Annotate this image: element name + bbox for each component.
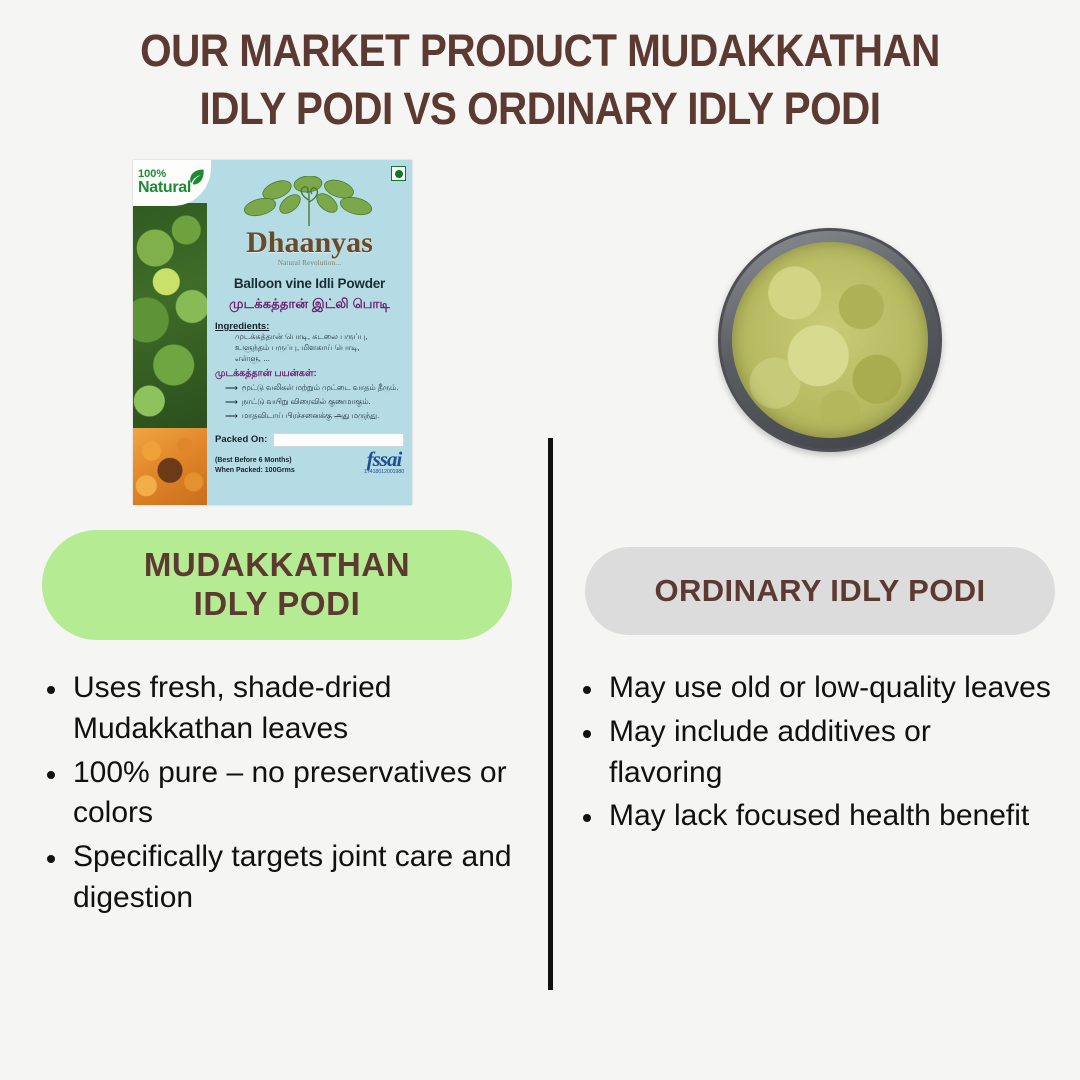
use-list-item-text: மூட்டு வலிகள் மற்றும் முட்டை வாதம் தீரும… bbox=[242, 383, 399, 392]
list-item: May lack focused health benefit bbox=[572, 796, 1052, 837]
balloon-vine-plant-photo bbox=[133, 203, 207, 428]
natural-badge-bottom-text: Natural bbox=[138, 180, 191, 197]
use-list-item-text: நாட்டு வயிறு விரைவில் குணமாகும். bbox=[242, 397, 371, 406]
product-package-image: 100% Natural bbox=[133, 160, 412, 505]
dhaanyas-plant-artwork bbox=[215, 176, 404, 234]
package-footer: (Best Before 6 Months) When Packed: 100G… bbox=[215, 449, 404, 476]
list-item: May include additives or flavoring bbox=[572, 712, 1052, 794]
page-title: OUR MARKET PRODUCT MUDAKKATHAN IDLY PODI… bbox=[54, 22, 1026, 137]
use-list-item: ⟶ மாதவிடாய் பிரச்சனைக்கு அது மருந்து. bbox=[225, 411, 404, 422]
packed-on-row: Packed On: bbox=[215, 433, 404, 447]
label-pill-mudakkathan: MUDAKKATHAN IDLY PODI bbox=[42, 530, 512, 640]
idly-podi-powder-photo bbox=[133, 428, 207, 505]
ingredients-line: முடக்கத்தான் பொடி, கடலை பருப்பு, bbox=[235, 332, 404, 343]
brand-tagline: Natural Revolution... bbox=[215, 259, 404, 267]
plant-leaves-graphic bbox=[215, 176, 405, 234]
uses-heading: முடக்கத்தான் பயன்கள்: bbox=[215, 368, 404, 380]
use-list-item: ⟶ நாட்டு வயிறு விரைவில் குணமாகும். bbox=[225, 397, 404, 408]
ordinary-drawbacks-list: May use old or low-quality leaves May in… bbox=[572, 668, 1052, 840]
list-item: Specifically targets joint care and dige… bbox=[36, 837, 556, 919]
arrow-right-icon: ⟶ bbox=[225, 397, 238, 408]
label-pill-mudakkathan-line-2: IDLY PODI bbox=[194, 585, 361, 622]
page-title-line-1: OUR MARKET PRODUCT MUDAKKATHAN bbox=[54, 22, 1026, 80]
use-list-item-text: மாதவிடாய் பிரச்சனைக்கு அது மருந்து. bbox=[242, 411, 379, 420]
product-name-english: Balloon vine Idli Powder bbox=[215, 276, 404, 291]
use-list-item: ⟶ மூட்டு வலிகள் மற்றும் முட்டை வாதம் தீர… bbox=[225, 383, 404, 394]
package-footer-text: (Best Before 6 Months) When Packed: 100G… bbox=[215, 456, 295, 475]
ingredients-line: எள்ளு, ... bbox=[235, 354, 404, 365]
mudakkathan-benefits-list: Uses fresh, shade-dried Mudakkathan leav… bbox=[36, 668, 556, 922]
fssai-license-number: 17418012001980 bbox=[364, 470, 404, 476]
list-item: Uses fresh, shade-dried Mudakkathan leav… bbox=[36, 668, 556, 750]
when-packed-text: When Packed: 100Grms bbox=[215, 466, 295, 475]
page-title-line-2: IDLY PODI VS ORDINARY IDLY PODI bbox=[54, 80, 1026, 138]
packed-on-field bbox=[273, 433, 404, 447]
packed-on-label: Packed On: bbox=[215, 434, 267, 445]
product-name-tamil: முடக்கத்தான் இட்லி பொடி bbox=[215, 296, 404, 313]
arrow-right-icon: ⟶ bbox=[225, 383, 238, 394]
fssai-logo: fssai 17418012001980 bbox=[364, 449, 404, 476]
package-front-panel: Dhaanyas Natural Revolution... Balloon v… bbox=[207, 160, 412, 505]
leaf-icon bbox=[186, 167, 206, 187]
list-item: May use old or low-quality leaves bbox=[572, 668, 1052, 709]
list-item: 100% pure – no preservatives or colors bbox=[36, 753, 556, 835]
green-powder-surface bbox=[732, 242, 928, 438]
ingredients-line: உளுந்தம் பருப்பு, மிளகாய் பொடி, bbox=[235, 343, 404, 354]
label-pill-ordinary-line-1: ORDINARY IDLY PODI bbox=[654, 573, 985, 610]
arrow-right-icon: ⟶ bbox=[225, 411, 238, 422]
package-photo-strip bbox=[133, 160, 207, 505]
fssai-wordmark: fssai bbox=[364, 449, 404, 470]
best-before-text: (Best Before 6 Months) bbox=[215, 456, 295, 465]
ordinary-podi-bowl-image bbox=[718, 228, 942, 452]
label-pill-ordinary: ORDINARY IDLY PODI bbox=[585, 547, 1055, 635]
ingredients-heading: Ingredients: bbox=[215, 321, 404, 332]
label-pill-mudakkathan-line-1: MUDAKKATHAN bbox=[144, 546, 410, 583]
